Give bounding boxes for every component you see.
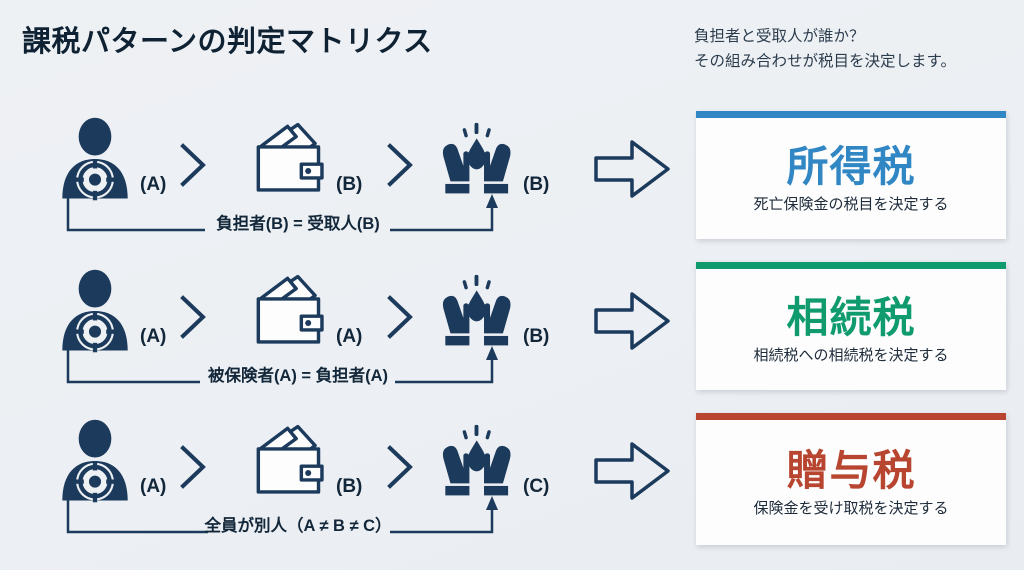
connector-label: 負担者(B) = 受取人(B) xyxy=(118,210,478,234)
person-target-icon xyxy=(52,418,138,504)
chevron-right-icon xyxy=(175,294,209,340)
flow-row-income-tax: (A) (B) xyxy=(0,110,690,260)
chevron-right-icon xyxy=(175,142,209,188)
node-beneficiary-hands: (C) xyxy=(435,418,549,504)
wallet-icon xyxy=(248,268,334,354)
flow-row-gift-tax: (A) (B) xyxy=(0,412,690,562)
flow-row-inheritance-tax: (A) (A) xyxy=(0,262,690,412)
result-arrow-icon xyxy=(592,436,674,506)
card-accent-bar xyxy=(696,262,1006,269)
tax-pattern-matrix-diagram: 課税パターンの判定マトリクス 負担者と受取人が誰か？ その組み合わせが税目を決定… xyxy=(0,0,1024,570)
card-title: 贈与税 xyxy=(786,447,915,494)
receiving-hands-icon xyxy=(435,116,521,202)
result-card-income-tax[interactable]: 所得税 死亡保険金の税目を決定する xyxy=(696,111,1006,239)
wallet-icon xyxy=(248,418,334,504)
node-insured-person: (A) xyxy=(52,418,166,504)
connector-label: 被保険者(A) = 負担者(A) xyxy=(118,362,478,386)
node-insured-person: (A) xyxy=(52,268,166,354)
result-card-gift-tax[interactable]: 贈与税 保険金を受け取税を決定する xyxy=(696,413,1006,545)
card-body: 贈与税 保険金を受け取税を決定する xyxy=(696,420,1006,545)
chevron-right-icon xyxy=(175,444,209,490)
node-insured-person: (A) xyxy=(52,116,166,202)
node-payer-wallet: (B) xyxy=(248,116,362,202)
card-body: 所得税 死亡保険金の税目を決定する xyxy=(696,118,1006,239)
person-target-icon xyxy=(52,268,138,354)
node-payer-wallet: (A) xyxy=(248,268,362,354)
chevron-right-icon xyxy=(382,142,416,188)
result-arrow-icon xyxy=(592,286,674,356)
page-title: 課税パターンの判定マトリクス xyxy=(22,18,433,60)
connector-label: 全員が別人（A ≠ B ≠ C） xyxy=(118,512,478,536)
card-accent-bar xyxy=(696,413,1006,420)
card-title: 所得税 xyxy=(786,143,915,190)
card-description: 保険金を受け取税を決定する xyxy=(753,497,948,518)
receiving-hands-icon xyxy=(435,418,521,504)
subtitle-line-2: その組み合わせが税目を決定します。 xyxy=(694,49,956,74)
subtitle-line-1: 負担者と受取人が誰か？ xyxy=(694,24,956,49)
chevron-right-icon xyxy=(382,294,416,340)
node-payer-wallet: (B) xyxy=(248,418,362,504)
node-beneficiary-hands: (B) xyxy=(435,268,549,354)
node-beneficiary-hands: (B) xyxy=(435,116,549,202)
result-arrow-icon xyxy=(592,134,674,204)
subtitle: 負担者と受取人が誰か？ その組み合わせが税目を決定します。 xyxy=(694,24,956,74)
card-accent-bar xyxy=(696,111,1006,118)
card-body: 相続税 相続税への相続税を決定する xyxy=(696,269,1006,390)
chevron-right-icon xyxy=(382,444,416,490)
card-description: 相続税への相続税を決定する xyxy=(753,344,948,365)
receiving-hands-icon xyxy=(435,268,521,354)
person-target-icon xyxy=(52,116,138,202)
card-description: 死亡保険金の税目を決定する xyxy=(753,193,948,214)
result-card-inheritance-tax[interactable]: 相続税 相続税への相続税を決定する xyxy=(696,262,1006,390)
card-title: 相続税 xyxy=(786,294,915,341)
wallet-icon xyxy=(248,116,334,202)
